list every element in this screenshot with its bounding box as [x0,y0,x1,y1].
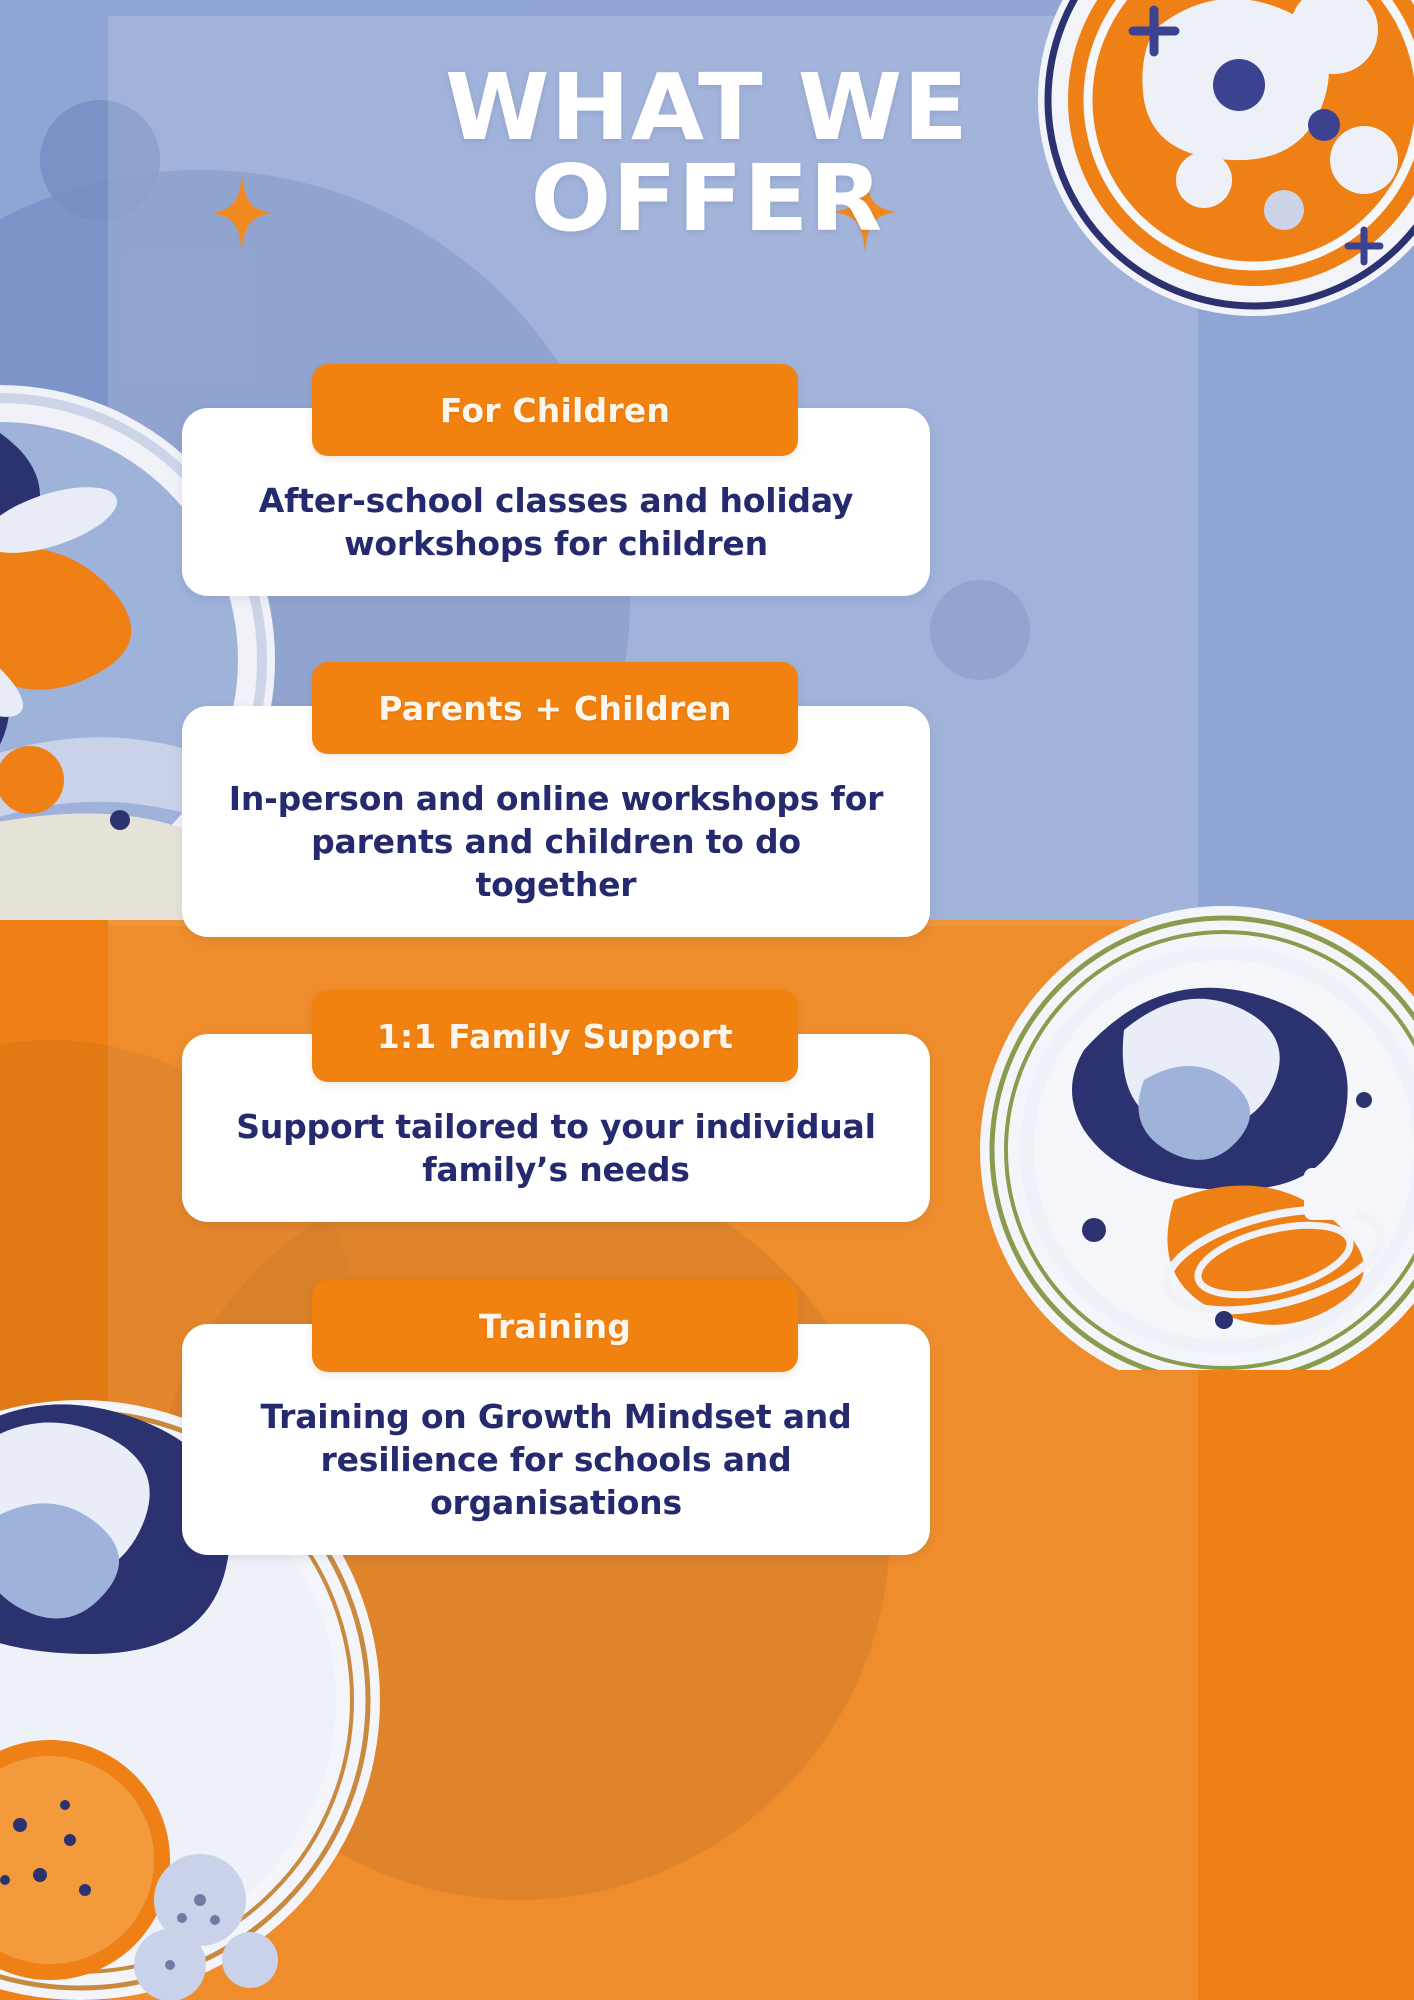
offer-card-label: For Children [440,391,670,430]
offer-card-label: Parents + Children [378,689,731,728]
offer-card-header-pill[interactable]: For Children [312,364,798,456]
offer-card-header-pill[interactable]: Training [312,1280,798,1372]
page-title: WHAT WE OFFER [0,62,1414,244]
offer-card-label: Training [479,1307,631,1346]
offer-card-header-pill[interactable]: 1:1 Family Support [312,990,798,1082]
offer-card-header-pill[interactable]: Parents + Children [312,662,798,754]
offer-cards-list: After-school classes and holiday worksho… [0,0,1414,2000]
offer-card-label: 1:1 Family Support [377,1017,733,1056]
